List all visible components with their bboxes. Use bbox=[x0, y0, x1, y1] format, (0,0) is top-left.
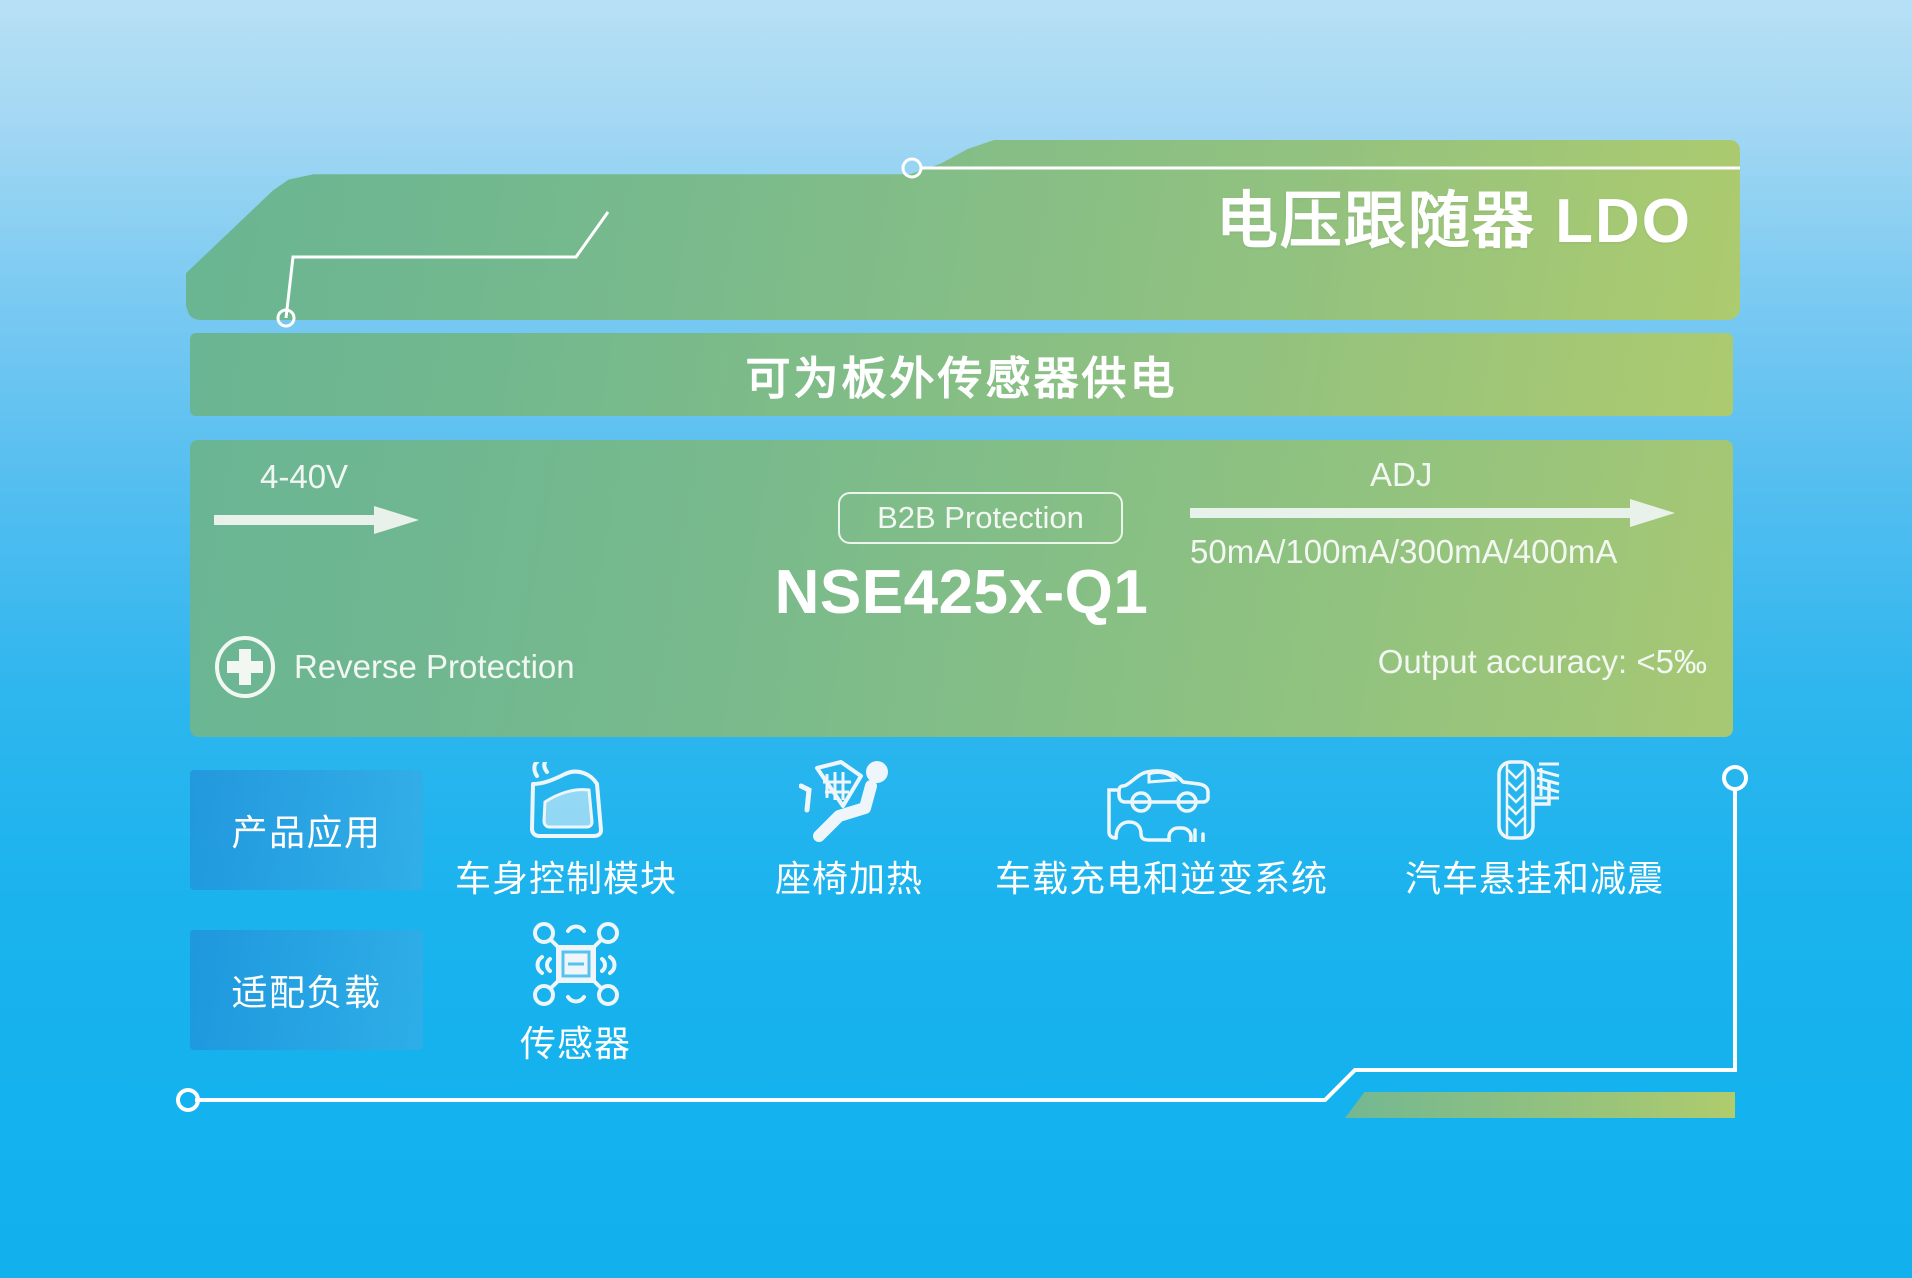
category-chip-matched-loads[interactable]: 适配负载 bbox=[190, 930, 423, 1050]
application-item-suspension[interactable]: 汽车悬挂和减震 bbox=[1405, 760, 1664, 902]
application-label: 车身控制模块 bbox=[455, 850, 677, 902]
application-label: 车载充电和逆变系统 bbox=[995, 850, 1328, 902]
reverse-protection-row: Reverse Protection bbox=[214, 636, 575, 698]
application-item-body-control[interactable]: 车身控制模块 bbox=[455, 760, 677, 902]
spec-panel: 4-40V B2B Protection ADJ 50mA/100mA/300m… bbox=[190, 440, 1733, 737]
application-label: 座椅加热 bbox=[775, 850, 923, 902]
subtitle-text: 可为板外传感器供电 bbox=[745, 342, 1177, 407]
adj-label: ADJ bbox=[1370, 456, 1432, 494]
application-item-obc-inverter[interactable]: 车载充电和逆变系统 bbox=[995, 760, 1328, 902]
subtitle-bar: 可为板外传感器供电 bbox=[190, 333, 1733, 416]
bottom-accent-bar bbox=[1345, 1092, 1735, 1118]
plus-circle-icon bbox=[214, 636, 276, 698]
b2b-protection-badge: B2B Protection bbox=[838, 492, 1123, 544]
app-icon-slot bbox=[523, 760, 609, 842]
app-icon-slot bbox=[1103, 760, 1221, 842]
reverse-protection-label: Reverse Protection bbox=[294, 648, 575, 686]
ev-charger-icon bbox=[1103, 760, 1221, 842]
application-label: 汽车悬挂和减震 bbox=[1405, 850, 1664, 902]
arrow-right-icon bbox=[1190, 498, 1675, 528]
category-chip-label: 适配负载 bbox=[231, 964, 381, 1016]
trace-node-bottom-right bbox=[1724, 767, 1746, 789]
load-label: 传感器 bbox=[520, 1015, 631, 1067]
application-item-seat-heating[interactable]: 座椅加热 bbox=[775, 760, 923, 902]
input-voltage-label: 4-40V bbox=[260, 458, 348, 496]
infographic-canvas: 电压跟随器 LDO 可为板外传感器供电 4-40V B2B Protection… bbox=[0, 0, 1912, 1278]
app-icon-slot bbox=[799, 760, 899, 842]
category-chip-product-applications[interactable]: 产品应用 bbox=[190, 770, 423, 890]
suspension-tire-icon bbox=[1493, 760, 1577, 842]
app-icon-slot bbox=[530, 925, 622, 1007]
category-chip-label: 产品应用 bbox=[231, 804, 381, 856]
hero-banner: 电压跟随器 LDO bbox=[186, 140, 1740, 320]
product-name: NSE425x-Q1 bbox=[190, 557, 1733, 628]
sensor-chip-icon bbox=[530, 921, 622, 1007]
heated-seat-icon bbox=[799, 760, 899, 842]
b2b-protection-label: B2B Protection bbox=[877, 500, 1084, 536]
app-icon-slot bbox=[1493, 760, 1577, 842]
arrow-right-icon bbox=[214, 505, 419, 535]
trace-node-bottom-left bbox=[178, 1090, 198, 1110]
output-accuracy-label: Output accuracy: <5‰ bbox=[1378, 643, 1707, 681]
car-door-icon bbox=[523, 762, 609, 842]
page-title: 电压跟随器 LDO bbox=[1216, 188, 1692, 256]
load-item-sensor[interactable]: 传感器 bbox=[520, 925, 631, 1067]
